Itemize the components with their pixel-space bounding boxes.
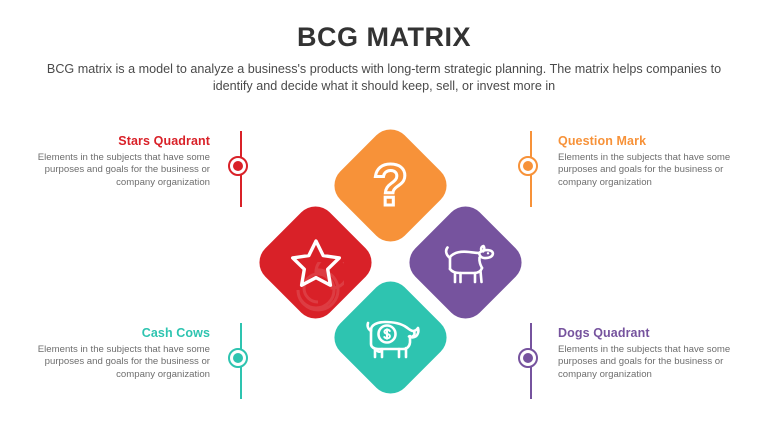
quadrant-label-stars[interactable]: Stars Quadrant Elements in the subjects …: [10, 134, 210, 189]
connector-marker-stars: [228, 131, 254, 207]
diamond-cash-cows[interactable]: [326, 273, 455, 402]
quadrant-heading-dogs: Dogs Quadrant: [558, 326, 758, 341]
cow-dollar-icon: [345, 292, 436, 383]
connector-marker-question-mark: [518, 131, 544, 207]
page-title: BCG MATRIX: [0, 20, 768, 54]
marker-dot-dogs: [523, 353, 533, 363]
quadrant-heading-question-mark: Question Mark: [558, 134, 758, 149]
quadrant-description-cash-cows: Elements in the subjects that have some …: [10, 344, 210, 381]
connector-marker-cash-cows: [228, 323, 254, 399]
bcg-matrix-infographic: BCG MATRIX BCG matrix is a model to anal…: [0, 0, 768, 432]
quadrant-description-dogs: Elements in the subjects that have some …: [558, 344, 758, 381]
page-subtitle: BCG matrix is a model to analyze a busin…: [34, 61, 734, 95]
quadrant-heading-cash-cows: Cash Cows: [10, 326, 210, 341]
quadrant-label-dogs[interactable]: Dogs Quadrant Elements in the subjects t…: [558, 326, 758, 381]
quadrant-description-question-mark: Elements in the subjects that have some …: [558, 152, 758, 189]
quadrant-heading-stars: Stars Quadrant: [10, 134, 210, 149]
marker-dot-question-mark: [523, 161, 533, 171]
quadrant-description-stars: Elements in the subjects that have some …: [10, 152, 210, 189]
connector-marker-dogs: [518, 323, 544, 399]
header: BCG MATRIX BCG matrix is a model to anal…: [0, 20, 768, 95]
quadrant-label-cash-cows[interactable]: Cash Cows Elements in the subjects that …: [10, 326, 210, 381]
marker-dot-stars: [233, 161, 243, 171]
marker-dot-cash-cows: [233, 353, 243, 363]
quadrant-label-question-mark[interactable]: Question Mark Elements in the subjects t…: [558, 134, 758, 189]
